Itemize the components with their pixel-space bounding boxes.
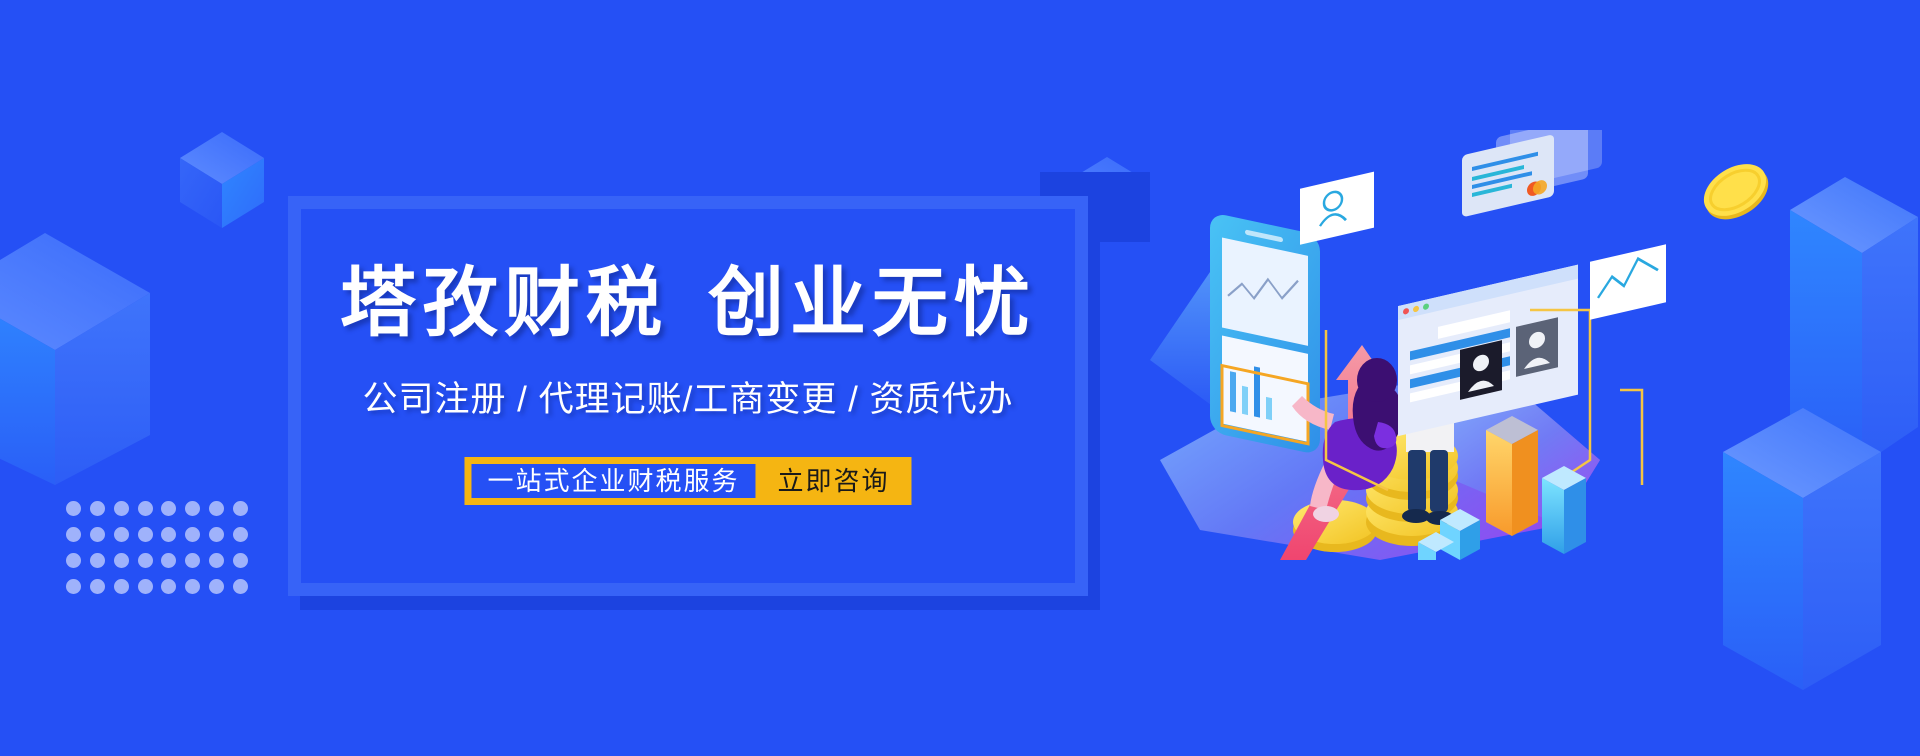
dot bbox=[209, 501, 224, 516]
dot bbox=[185, 501, 200, 516]
dot bbox=[161, 527, 176, 542]
rising-arrow bbox=[1280, 345, 1386, 560]
dot bbox=[209, 527, 224, 542]
dot bbox=[185, 527, 200, 542]
smartphone-with-charts bbox=[1210, 212, 1320, 455]
cube-small-top-left bbox=[160, 100, 300, 240]
dot bbox=[90, 501, 105, 516]
dot bbox=[161, 553, 176, 568]
dot-grid-decoration bbox=[62, 495, 252, 600]
dot bbox=[209, 553, 224, 568]
dot bbox=[233, 527, 248, 542]
service-tagline: 一站式企业财税服务 bbox=[471, 464, 755, 498]
dot bbox=[161, 579, 176, 594]
credit-card bbox=[1462, 130, 1602, 480]
browser-window-with-photos bbox=[1398, 265, 1578, 437]
block-tall-bottom-right bbox=[1705, 400, 1920, 690]
dot bbox=[185, 579, 200, 594]
dot bbox=[66, 553, 81, 568]
promo-banner: 塔孜财税创业无忧 公司注册 / 代理记账/工商变更 / 资质代办 一站式企业财税… bbox=[0, 0, 1920, 756]
dot bbox=[138, 579, 153, 594]
dot bbox=[209, 579, 224, 594]
services-subtitle: 公司注册 / 代理记账/工商变更 / 资质代办 bbox=[301, 371, 1075, 422]
isometric-fintech-illustration bbox=[1130, 130, 1670, 560]
block-tall-right bbox=[1790, 165, 1920, 465]
headline-part-2: 创业无忧 bbox=[708, 261, 1036, 346]
cube-large-left-edge bbox=[0, 185, 190, 485]
dot bbox=[114, 579, 129, 594]
dot bbox=[90, 579, 105, 594]
seated-woman-on-coins bbox=[1292, 358, 1404, 522]
dot bbox=[138, 501, 153, 516]
dot bbox=[138, 553, 153, 568]
dot bbox=[66, 501, 81, 516]
page-title: 塔孜财税创业无忧 bbox=[301, 241, 1075, 351]
dot bbox=[90, 527, 105, 542]
standing-man-at-dashboard bbox=[1402, 363, 1494, 525]
dot bbox=[185, 553, 200, 568]
dot bbox=[233, 501, 248, 516]
isometric-bar-chart bbox=[1418, 416, 1586, 560]
dot bbox=[161, 501, 176, 516]
coin-stack bbox=[1293, 432, 1458, 552]
dot bbox=[90, 553, 105, 568]
dot bbox=[66, 579, 81, 594]
dot bbox=[138, 527, 153, 542]
line-chart-card bbox=[1590, 244, 1666, 485]
dot bbox=[114, 527, 129, 542]
consult-now-button[interactable]: 立即咨询 bbox=[756, 457, 912, 505]
dot bbox=[114, 501, 129, 516]
dot bbox=[233, 553, 248, 568]
dot bbox=[66, 527, 81, 542]
user-profile-card bbox=[1300, 172, 1388, 490]
text-frame: 塔孜财税创业无忧 公司注册 / 代理记账/工商变更 / 资质代办 一站式企业财税… bbox=[288, 196, 1088, 596]
coin-top-right bbox=[1690, 150, 1780, 230]
dot bbox=[114, 553, 129, 568]
cta-row: 一站式企业财税服务 立即咨询 bbox=[464, 457, 911, 505]
headline-part-1: 塔孜财税 bbox=[340, 261, 668, 346]
dot bbox=[233, 579, 248, 594]
